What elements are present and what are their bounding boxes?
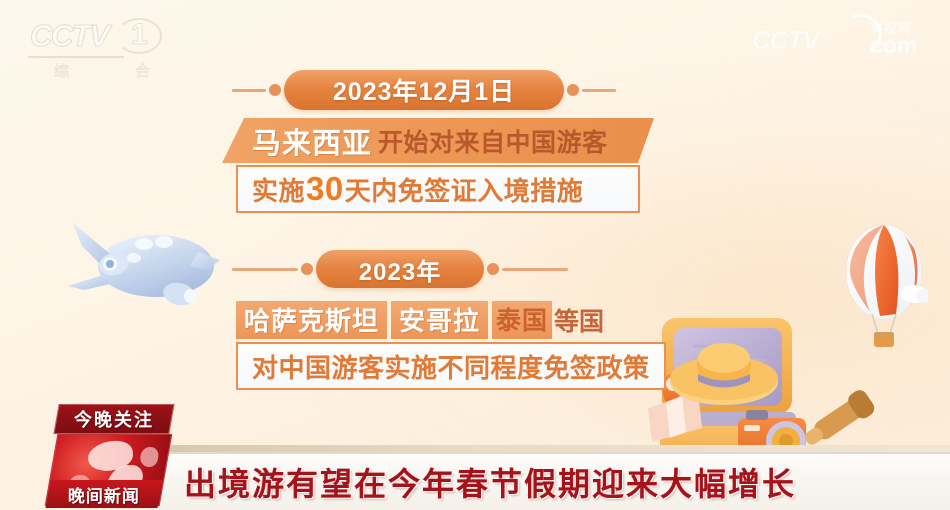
country-chip: 哈萨克斯坦: [236, 301, 387, 339]
block1-body-text: 实施30天内免签证入境措施: [252, 170, 583, 208]
cctv-channel-logo: CCTV 1 综 合: [26, 18, 176, 78]
block2-body-text: 对中国游客实施不同程度免签政策: [252, 348, 650, 385]
block1-body-number: 30: [305, 170, 345, 207]
watermark-brand: CCTV: [752, 25, 819, 56]
date2-line-right: [502, 268, 568, 271]
block1-body-prefix: 实施: [252, 176, 305, 206]
country-chip-row: 哈萨克斯坦 安哥拉 泰国 等国: [236, 300, 668, 340]
airplane-icon: [48, 208, 228, 323]
block1-header-banner: 马来西亚 开始对来自中国游客: [222, 118, 654, 163]
date-banner-1: 2023年12月1日: [232, 70, 616, 110]
channel-subtitle-right: 合: [135, 60, 150, 81]
decorative-tick-icon: [208, 112, 234, 138]
date-pill-2-label: 2023年: [316, 250, 484, 288]
channel-number: 1: [131, 20, 148, 50]
date2-dot-right: [487, 263, 499, 275]
block1-headline-rest: 开始对来自中国游客: [378, 123, 608, 159]
block1-body-box: 实施30天内免签证入境措施: [236, 165, 640, 213]
watermark-domain: com: [870, 32, 917, 59]
date-dot-left: [269, 84, 281, 96]
info-block-countries: 哈萨克斯坦 安哥拉 泰国 等国 对中国游客实施不同程度免签政策: [236, 300, 668, 390]
program-name-label: 晚间新闻: [68, 482, 140, 507]
program-segment-banner: 今晚关注: [53, 404, 174, 434]
block1-body-suffix: 天内免签证入境措施: [345, 176, 584, 206]
program-badge: 今晚关注 晚间新闻: [48, 404, 172, 508]
block2-body-box: 对中国游客实施不同程度免签政策: [236, 342, 666, 390]
cctv-logo-underline: [28, 56, 124, 58]
date-dot-right: [567, 84, 579, 96]
block1-country-name: 马来西亚: [252, 120, 372, 162]
date-pill-1-label: 2023年12月1日: [284, 70, 564, 110]
program-name-banner: 晚间新闻: [46, 480, 163, 508]
country-chip: 安哥拉: [391, 301, 488, 339]
date-line-left: [232, 89, 266, 92]
country-chip-tail: 等国: [554, 302, 604, 338]
country-chip: 泰国: [492, 301, 552, 339]
cctv-wordmark: CCTV: [30, 20, 108, 51]
channel-subtitle: 综 合: [54, 60, 150, 81]
date-banner-2: 2023年: [232, 250, 568, 288]
headline-bar: 出境游有望在今年春节假期迎来大幅增长: [152, 452, 950, 510]
program-segment-label: 今晚关注: [74, 406, 154, 432]
date2-line-left: [232, 268, 298, 271]
channel-subtitle-left: 综: [54, 60, 69, 81]
date2-dot-left: [301, 263, 313, 275]
news-headline: 出境游有望在今年春节假期迎来大幅增长: [184, 459, 796, 505]
date-line-right: [582, 89, 616, 92]
cctv-com-watermark: CCTV 央视网 com: [752, 14, 932, 58]
info-block-malaysia: 马来西亚 开始对来自中国游客 实施30天内免签证入境措施: [222, 118, 654, 213]
headline-accent-strip: [167, 445, 950, 452]
